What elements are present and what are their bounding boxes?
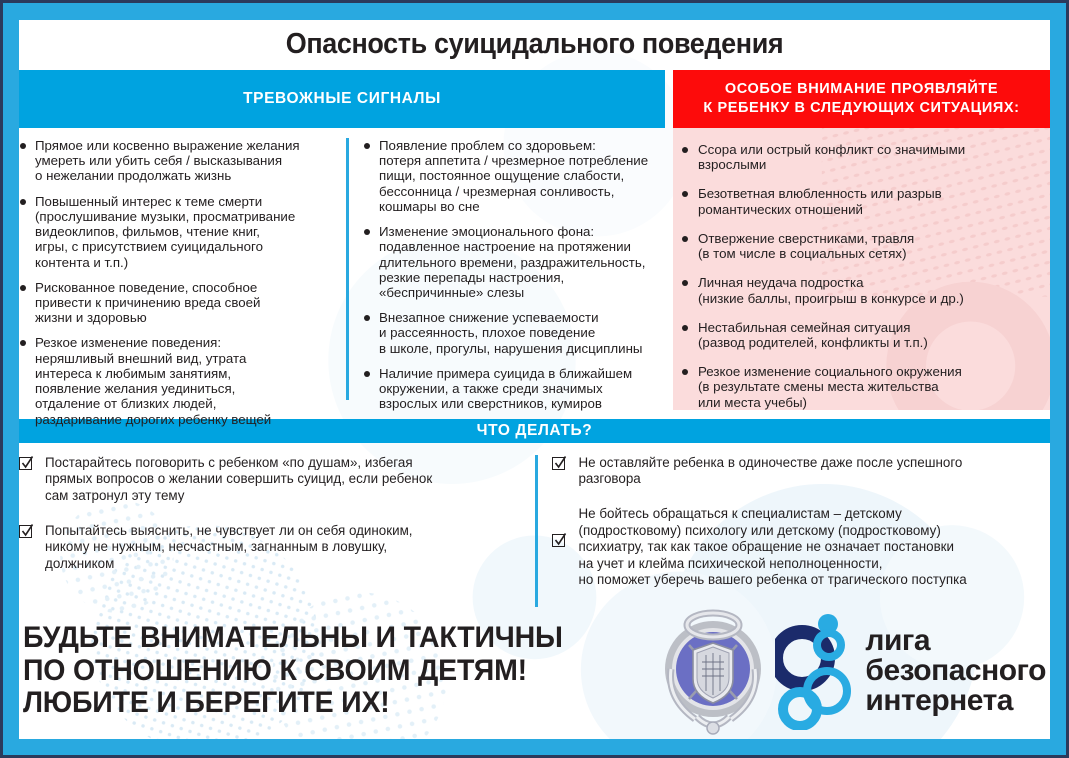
list-item: Отвержение сверстниками, травля(в том чи… (681, 231, 1040, 261)
footer: БУДЬТЕ ВНИМАТЕЛЬНЫ И ТАКТИЧНЫ ПО ОТНОШЕН… (19, 607, 1050, 739)
checklist-item[interactable]: Попытайтесь выяснить, не чувствует ли он… (19, 523, 523, 573)
checklist-item-line: психиатру, так как такое обращение не оз… (578, 539, 1040, 556)
what-to-do-list-left: Постарайтесь поговорить с ребенком «по д… (19, 455, 523, 573)
checklist-item-line: на учет и клейма психической неполноценн… (578, 556, 1040, 573)
list-item-line: Появление проблем со здоровьем: (379, 138, 657, 153)
checkmark-icon[interactable] (19, 525, 32, 538)
list-item: Повышенный интерес к теме смерти(прослуш… (19, 194, 334, 270)
checklist-item-line: Не оставляйте ребенка в одиночестве даже… (578, 455, 1040, 472)
logo-line-1: лига (865, 626, 1046, 656)
banner-special-attention: ОСОБОЕ ВНИМАНИЕ ПРОЯВЛЯЙТЕ К РЕБЕНКУ В С… (673, 70, 1050, 128)
footer-slogan: БУДЬТЕ ВНИМАТЕЛЬНЫ И ТАКТИЧНЫ ПО ОТНОШЕН… (23, 622, 563, 720)
checklist-item-line: Попытайтесь выяснить, не чувствует ли он… (45, 523, 523, 540)
checklist-item-line: должником (45, 556, 523, 573)
list-item-line: о нежелании продолжать жизнь (35, 168, 334, 183)
list-item-line: или места учебы) (698, 395, 1040, 410)
checkmark-icon[interactable] (552, 457, 565, 470)
list-item-line: в школе, прогулы, нарушения дисциплины (379, 341, 657, 356)
list-item-line: игры, с присутствием суицидального (35, 239, 334, 254)
list-item: Резкое изменение поведения:неряшливый вн… (19, 335, 334, 426)
list-item-line: неряшливый внешний вид, утрата (35, 351, 334, 366)
list-item-line: (в том числе в социальных сетях) (698, 246, 1040, 261)
list-item: Личная неудача подростка(низкие баллы, п… (681, 275, 1040, 305)
warning-signals-list-2: Появление проблем со здоровьем:потеря ап… (363, 138, 657, 412)
list-item-line: Рискованное поведение, способное (35, 280, 334, 295)
poster-frame: Опасность суицидального поведения ТРЕВОЖ… (3, 3, 1066, 755)
list-item-line: взрослых или сверстников, кумиров (379, 396, 657, 411)
list-item-line: потеря аппетита / чрезмерное потребление (379, 153, 657, 168)
list-item-line: (прослушивание музыки, просматривание (35, 209, 334, 224)
list-item-line: отдаление от близких людей, (35, 396, 334, 411)
footer-slogan-line2: ПО ОТНОШЕНИЮ К СВОИМ ДЕТЯМ! (23, 655, 563, 688)
list-item: Изменение эмоционального фона:подавленно… (363, 224, 657, 300)
list-item-line: Личная неудача подростка (698, 275, 1040, 290)
list-item-line: «беспричинные» слезы (379, 285, 657, 300)
league-safe-internet-mark-icon (775, 612, 855, 730)
checklist-item[interactable]: Постарайтесь поговорить с ребенком «по д… (19, 455, 523, 505)
list-item-line: и рассеянность, плохое поведение (379, 325, 657, 340)
list-item: Рискованное поведение, способноепривести… (19, 280, 334, 326)
checklist-item[interactable]: Не бойтесь обращаться к специалистам – д… (552, 506, 1040, 589)
list-item-line: взрослыми (698, 157, 1040, 172)
footer-slogan-line1: БУДЬТЕ ВНИМАТЕЛЬНЫ И ТАКТИЧНЫ (23, 622, 563, 655)
list-item-line: раздаривание дорогих ребенку вещей (35, 412, 334, 427)
checklist-item[interactable]: Не оставляйте ребенка в одиночестве даже… (552, 455, 1040, 488)
checkmark-icon[interactable] (552, 534, 565, 547)
list-item-line: Ссора или острый конфликт со значимыми (698, 142, 1040, 157)
what-to-do-column-left: Постарайтесь поговорить с ребенком «по д… (19, 455, 533, 607)
checklist-item-line: Не бойтесь обращаться к специалистам – д… (578, 506, 1040, 523)
section-banners: ТРЕВОЖНЫЕ СИГНАЛЫ ОСОБОЕ ВНИМАНИЕ ПРОЯВЛ… (19, 70, 1050, 128)
list-item: Ссора или острый конфликт со значимымивз… (681, 142, 1040, 172)
list-item-line: привести к причинению вреда своей (35, 295, 334, 310)
list-item-line: умереть или убить себя / высказывания (35, 153, 334, 168)
poster-root: Опасность суицидального поведения ТРЕВОЖ… (0, 0, 1069, 758)
checklist-item-line: прямых вопросов о желании совершить суиц… (45, 471, 523, 488)
warning-signals-column-1: Прямое или косвенно выражение желанияуме… (19, 138, 342, 400)
logo-line-3: интернета (865, 686, 1046, 716)
list-item-line: романтических отношений (698, 202, 1040, 217)
footer-logos: лига безопасного интернета (661, 607, 1046, 735)
list-item-line: кошмары во сне (379, 199, 657, 214)
list-item-line: окружении, а также среди значимых (379, 381, 657, 396)
page-title: Опасность суицидального поведения (55, 20, 1014, 70)
logo-line-2: безопасного (865, 656, 1046, 686)
list-item-line: Повышенный интерес к теме смерти (35, 194, 334, 209)
list-item: Резкое изменение социального окружения(в… (681, 364, 1040, 410)
league-safe-internet-wordmark: лига безопасного интернета (865, 626, 1046, 716)
list-item-line: бессонница / чрезмерная сонливость, (379, 184, 657, 199)
list-item-line: подавленное настроение на протяжении (379, 239, 657, 254)
what-to-do-column-right: Не оставляйте ребенка в одиночестве даже… (535, 455, 1050, 607)
list-item-line: Резкое изменение социального окружения (698, 364, 1040, 379)
checklist-item-line: (подростковому) психологу или детскому (… (578, 523, 1040, 540)
list-item: Появление проблем со здоровьем:потеря ап… (363, 138, 657, 214)
coat-of-arms-emblem-icon (661, 607, 765, 735)
banner-warning-signals: ТРЕВОЖНЫЕ СИГНАЛЫ (19, 70, 665, 128)
list-item-line: Изменение эмоционального фона: (379, 224, 657, 239)
list-item-line: жизни и здоровью (35, 310, 334, 325)
list-item-line: Нестабильная семейная ситуация (698, 320, 1040, 335)
list-item: Нестабильная семейная ситуация(развод ро… (681, 320, 1040, 350)
warning-signals-list-1: Прямое или косвенно выражение желанияуме… (19, 138, 334, 427)
warning-signals-columns: Прямое или косвенно выражение желанияуме… (19, 128, 665, 400)
risk-situations-panel: Ссора или острый конфликт со значимымивз… (673, 128, 1050, 410)
footer-slogan-line3: ЛЮБИТЕ И БЕРЕГИТЕ ИХ! (23, 687, 563, 720)
list-item-line: интереса к любимым занятиям, (35, 366, 334, 381)
list-item-line: пищи, постоянное ощущение слабости, (379, 168, 657, 183)
list-item: Внезапное снижение успеваемостии рассеян… (363, 310, 657, 356)
list-item: Прямое или косвенно выражение желанияуме… (19, 138, 334, 184)
top-body: Прямое или косвенно выражение желанияуме… (19, 128, 1050, 410)
poster-canvas: Опасность суицидального поведения ТРЕВОЖ… (19, 20, 1050, 739)
list-item-line: Прямое или косвенно выражение желания (35, 138, 334, 153)
list-item-line: контента и т.п.) (35, 255, 334, 270)
risk-situations-list: Ссора или острый конфликт со значимымивз… (681, 142, 1040, 410)
warning-signals-column-2: Появление проблем со здоровьем:потеря ап… (346, 138, 665, 400)
checkmark-icon[interactable] (19, 457, 32, 470)
checklist-item-line: Постарайтесь поговорить с ребенком «по д… (45, 455, 523, 472)
list-item-line: длительного времени, раздражительность, (379, 255, 657, 270)
what-to-do-list-right: Не оставляйте ребенка в одиночестве даже… (552, 455, 1040, 589)
list-item-line: Отвержение сверстниками, травля (698, 231, 1040, 246)
checklist-item-line: но поможет уберечь вашего ребенка от тра… (578, 572, 1040, 589)
list-item-line: видеоклипов, фильмов, чтение книг, (35, 224, 334, 239)
list-item-line: появление желания уединиться, (35, 381, 334, 396)
list-item-line: (развод родителей, конфликты и т.п.) (698, 335, 1040, 350)
checklist-item-line: никому не нужным, несчастным, загнанным … (45, 539, 523, 556)
list-item-line: (низкие баллы, проигрыш в конкурсе и др.… (698, 291, 1040, 306)
list-item-line: (в результате смены места жительства (698, 379, 1040, 394)
banner-special-attention-line2: К РЕБЕНКУ В СЛЕДУЮЩИХ СИТУАЦИЯХ: (703, 99, 1019, 118)
checklist-item-line: сам затронул эту тему (45, 488, 523, 505)
list-item-line: резкие перепады настроения, (379, 270, 657, 285)
list-item-line: Резкое изменение поведения: (35, 335, 334, 350)
list-item: Наличие примера суицида в ближайшемокруж… (363, 366, 657, 412)
list-item-line: Наличие примера суицида в ближайшем (379, 366, 657, 381)
list-item-line: Внезапное снижение успеваемости (379, 310, 657, 325)
banner-special-attention-line1: ОСОБОЕ ВНИМАНИЕ ПРОЯВЛЯЙТЕ (703, 80, 1019, 99)
what-to-do-columns: Постарайтесь поговорить с ребенком «по д… (19, 443, 1050, 607)
banner-warning-signals-label: ТРЕВОЖНЫЕ СИГНАЛЫ (243, 90, 441, 108)
list-item-line: Безответная влюбленность или разрыв (698, 186, 1040, 201)
banner-what-to-do-label: ЧТО ДЕЛАТЬ? (477, 422, 593, 440)
list-item: Безответная влюбленность или разрывроман… (681, 186, 1040, 216)
checklist-item-line: разговора (578, 471, 1040, 488)
